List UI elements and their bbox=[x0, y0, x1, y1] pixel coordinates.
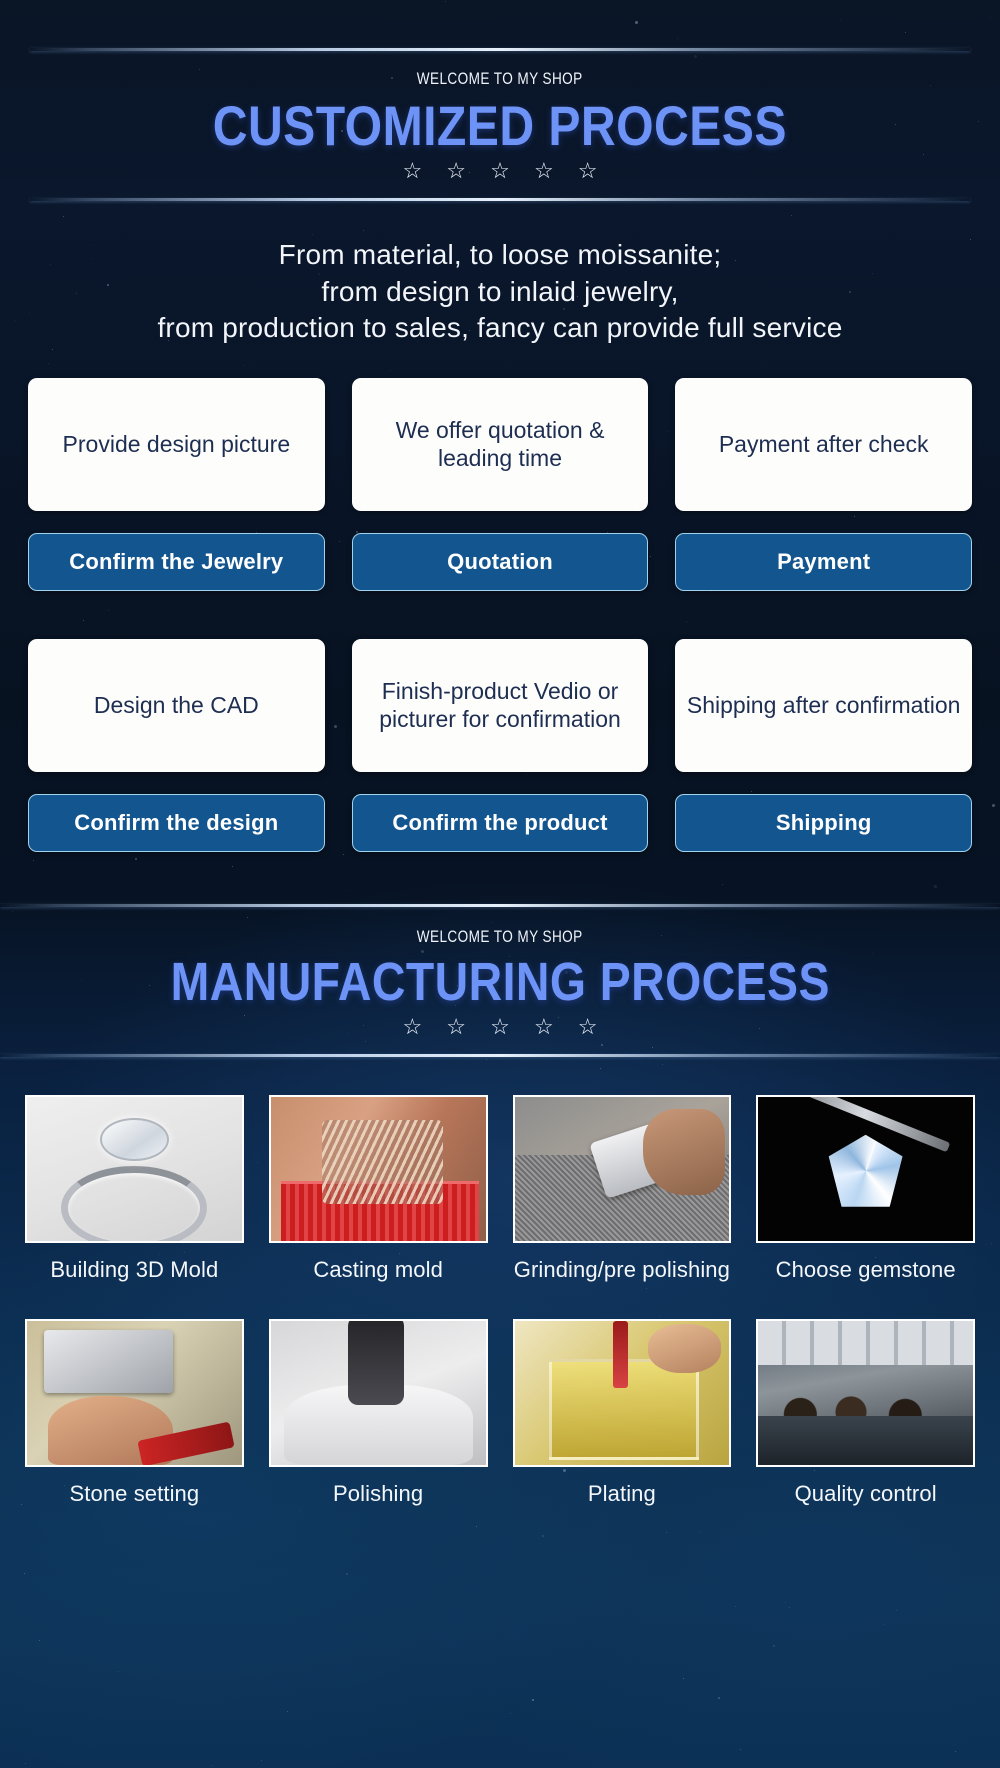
rating-stars-1: ☆ ☆ ☆ ☆ ☆ bbox=[0, 160, 1000, 182]
gallery-item-8[interactable]: Quality control bbox=[756, 1319, 975, 1507]
process-steps-grid: Provide design picture Confirm the Jewel… bbox=[28, 378, 972, 852]
intro-line-1: From material, to loose moissanite; bbox=[0, 237, 1000, 273]
step-label-bar[interactable]: Shipping bbox=[675, 794, 972, 852]
step-card: We offer quotation & leading time bbox=[352, 378, 649, 511]
gallery-item-7[interactable]: Plating bbox=[513, 1319, 732, 1507]
gallery-caption: Plating bbox=[513, 1481, 732, 1507]
customized-process-header: WELCOME TO MY SHOP CUSTOMIZED PROCESS ☆ … bbox=[0, 69, 1000, 182]
divider-above-gallery bbox=[0, 1054, 1000, 1057]
step-card: Shipping after confirmation bbox=[675, 639, 972, 772]
process-step-6: Shipping after confirmation Shipping bbox=[675, 639, 972, 852]
gallery-caption: Quality control bbox=[756, 1481, 975, 1507]
welcome-label-1: WELCOME TO MY SHOP bbox=[417, 69, 583, 89]
gallery-caption: Building 3D Mold bbox=[25, 1257, 244, 1283]
step-label-bar[interactable]: Confirm the design bbox=[28, 794, 325, 852]
process-step-5: Finish-product Vedio or picturer for con… bbox=[352, 639, 649, 852]
gallery-caption: Stone setting bbox=[25, 1481, 244, 1507]
step-label-bar[interactable]: Confirm the product bbox=[352, 794, 649, 852]
page-title: CUSTOMIZED PROCESS bbox=[213, 97, 787, 154]
gallery-row-2: Stone setting Polishing Plating Quality … bbox=[25, 1319, 975, 1507]
process-step-2: We offer quotation & leading time Quotat… bbox=[352, 378, 649, 591]
intro-line-2: from design to inlaid jewelry, bbox=[0, 274, 1000, 310]
process-row-2: Design the CAD Confirm the design Finish… bbox=[28, 639, 972, 852]
step-label-bar[interactable]: Payment bbox=[675, 533, 972, 591]
intro-paragraph: From material, to loose moissanite; from… bbox=[0, 237, 1000, 346]
step-card: Design the CAD bbox=[28, 639, 325, 772]
casting-tree-photo bbox=[269, 1095, 488, 1243]
gallery-caption: Casting mold bbox=[269, 1257, 488, 1283]
gallery-row-1: Building 3D Mold Casting mold Grinding/p… bbox=[25, 1095, 975, 1283]
polishing-gloves-photo bbox=[269, 1319, 488, 1467]
gallery-caption: Choose gemstone bbox=[756, 1257, 975, 1283]
gallery-item-4[interactable]: Choose gemstone bbox=[756, 1095, 975, 1283]
gallery-caption: Grinding/pre polishing bbox=[513, 1257, 732, 1283]
divider-top bbox=[30, 48, 970, 51]
gallery-item-5[interactable]: Stone setting bbox=[25, 1319, 244, 1507]
divider-section-2 bbox=[0, 904, 1000, 907]
ring-3d-mold-photo bbox=[25, 1095, 244, 1243]
gallery-item-2[interactable]: Casting mold bbox=[269, 1095, 488, 1283]
step-card: Finish-product Vedio or picturer for con… bbox=[352, 639, 649, 772]
rating-stars-2: ☆ ☆ ☆ ☆ ☆ bbox=[0, 1016, 1000, 1038]
step-card: Provide design picture bbox=[28, 378, 325, 511]
section-title: MANUFACTURING PROCESS bbox=[170, 955, 829, 1010]
grinding-wheel-photo bbox=[513, 1095, 732, 1243]
step-label-bar[interactable]: Quotation bbox=[352, 533, 649, 591]
process-step-4: Design the CAD Confirm the design bbox=[28, 639, 325, 852]
gallery-item-6[interactable]: Polishing bbox=[269, 1319, 488, 1507]
welcome-label-2: WELCOME TO MY SHOP bbox=[417, 927, 583, 947]
gallery-item-1[interactable]: Building 3D Mold bbox=[25, 1095, 244, 1283]
stone-setting-bench-photo bbox=[25, 1319, 244, 1467]
step-card: Payment after check bbox=[675, 378, 972, 511]
gallery-item-3[interactable]: Grinding/pre polishing bbox=[513, 1095, 732, 1283]
process-row-1: Provide design picture Confirm the Jewel… bbox=[28, 378, 972, 591]
page-content: WELCOME TO MY SHOP CUSTOMIZED PROCESS ☆ … bbox=[0, 0, 1000, 1507]
step-label-bar[interactable]: Confirm the Jewelry bbox=[28, 533, 325, 591]
process-step-1: Provide design picture Confirm the Jewel… bbox=[28, 378, 325, 591]
manufacturing-process-header: WELCOME TO MY SHOP MANUFACTURING PROCESS… bbox=[0, 927, 1000, 1038]
tweezers-diamond-photo bbox=[756, 1095, 975, 1243]
manufacturing-gallery: Building 3D Mold Casting mold Grinding/p… bbox=[25, 1095, 975, 1507]
plating-tank-photo bbox=[513, 1319, 732, 1467]
qc-office-photo bbox=[756, 1319, 975, 1467]
divider-under-title bbox=[30, 198, 970, 201]
intro-line-3: from production to sales, fancy can prov… bbox=[0, 310, 1000, 346]
process-step-3: Payment after check Payment bbox=[675, 378, 972, 591]
gallery-caption: Polishing bbox=[269, 1481, 488, 1507]
